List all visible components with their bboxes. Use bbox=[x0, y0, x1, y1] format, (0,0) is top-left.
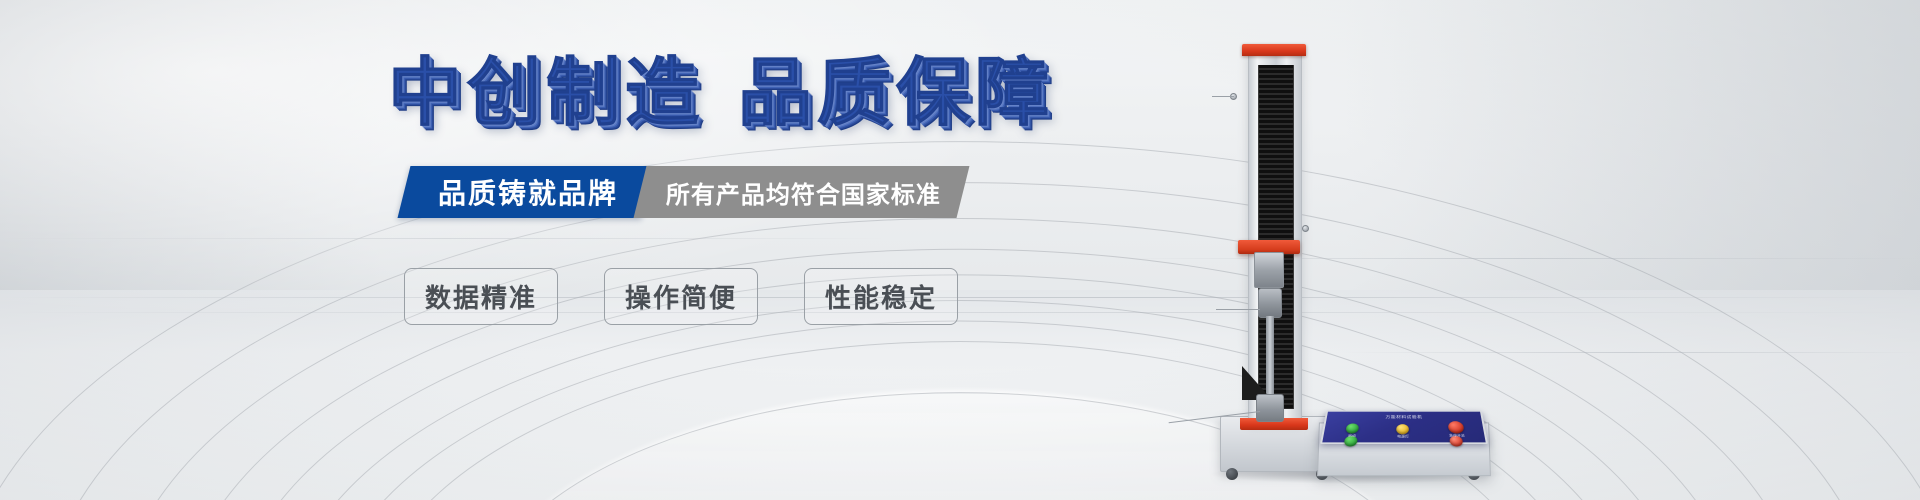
control-panel-title: 万能材料试验机 bbox=[1385, 415, 1422, 420]
emergency-stop-button[interactable] bbox=[1448, 421, 1465, 433]
machine-cable-upper bbox=[1212, 96, 1234, 97]
promo-banner: 中创制造品质保障 品质铸就品牌 所有产品均符合国家标准 数据精准 操作简便 性能… bbox=[0, 0, 1920, 500]
page-title: 中创制造品质保障 bbox=[388, 56, 1054, 130]
headline-part1: 中创制造 bbox=[388, 51, 704, 134]
power-indicator bbox=[1396, 424, 1409, 434]
testing-machine-image: 万能材料试验机 启动 电源灯 急停开关 bbox=[1168, 0, 1608, 500]
feature-pill-easy-operation: 操作简便 bbox=[604, 268, 758, 325]
feature-pill-list: 数据精准 操作简便 性能稳定 bbox=[404, 268, 958, 325]
feature-pill-stable-performance: 性能稳定 bbox=[804, 268, 958, 325]
badge-secondary-label: 所有产品均符合国家标准 bbox=[666, 175, 941, 210]
badge-primary-label: 品质铸就品牌 bbox=[438, 172, 618, 212]
power-indicator-label: 电源灯 bbox=[1397, 434, 1409, 439]
machine-caster-left bbox=[1226, 468, 1238, 480]
feature-pill-data-accuracy: 数据精准 bbox=[404, 268, 558, 325]
machine-control-panel: 万能材料试验机 启动 电源灯 急停开关 bbox=[1320, 410, 1488, 444]
badge-secondary: 所有产品均符合国家标准 bbox=[634, 166, 970, 218]
machine-upper-grip bbox=[1258, 288, 1282, 318]
badge-primary: 品质铸就品牌 bbox=[398, 166, 655, 218]
headline-part2: 品质保障 bbox=[738, 51, 1054, 134]
emergency-stop-button-label: 急停开关 bbox=[1449, 433, 1465, 438]
machine-lower-grip bbox=[1256, 394, 1284, 422]
machine-column-bellows bbox=[1258, 65, 1294, 409]
machine-limit-knob-lower bbox=[1302, 225, 1309, 232]
start-button[interactable] bbox=[1345, 423, 1359, 433]
machine-load-cell bbox=[1254, 252, 1284, 288]
machine-top-cap bbox=[1242, 44, 1306, 56]
machine-cable-mid bbox=[1216, 309, 1260, 310]
badge-bar: 品质铸就品牌 所有产品均符合国家标准 bbox=[404, 166, 963, 218]
start-button-label: 启动 bbox=[1348, 433, 1356, 438]
banner-content: 中创制造品质保障 品质铸就品牌 所有产品均符合国家标准 数据精准 操作简便 性能… bbox=[0, 0, 1920, 500]
